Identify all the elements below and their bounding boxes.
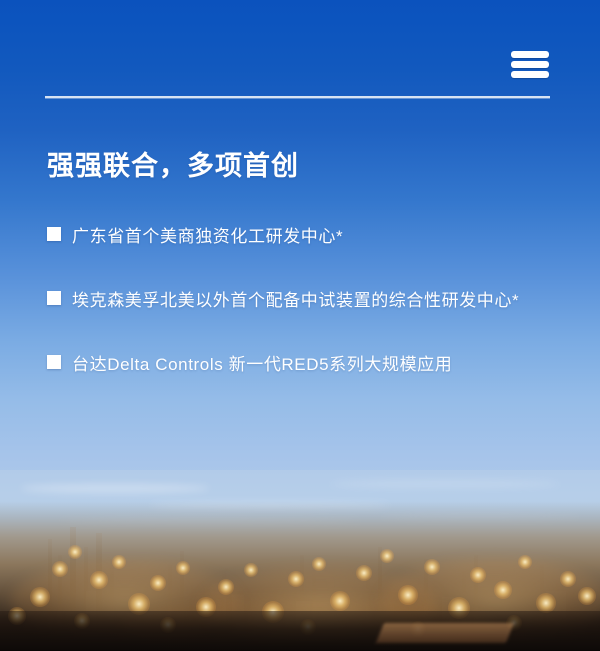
plant-light bbox=[288, 571, 304, 587]
feature-list: 广东省首个美商独资化工研发中心* 埃克森美孚北美以外首个配备中试装置的综合性研发… bbox=[47, 218, 547, 384]
hamburger-bar-bottom bbox=[511, 71, 549, 78]
plant-light bbox=[518, 555, 532, 569]
site-header bbox=[0, 0, 600, 100]
plant-light bbox=[356, 565, 372, 581]
hero-image-refinery bbox=[0, 470, 600, 651]
plant-light bbox=[380, 549, 394, 563]
list-item: 埃克森美孚北美以外首个配备中试装置的综合性研发中心* bbox=[47, 282, 547, 320]
hamburger-bar-top bbox=[511, 51, 549, 58]
list-item-label: 埃克森美孚北美以外首个配备中试装置的综合性研发中心* bbox=[72, 291, 519, 310]
plant-light bbox=[330, 591, 350, 611]
refinery-structures bbox=[0, 501, 600, 651]
hamburger-menu-icon[interactable] bbox=[511, 51, 549, 79]
plant-light bbox=[578, 587, 596, 605]
header-divider bbox=[45, 96, 550, 98]
plant-light bbox=[150, 575, 166, 591]
plant-light bbox=[560, 571, 576, 587]
access-road bbox=[376, 623, 514, 643]
plant-light bbox=[398, 585, 418, 605]
page-root: 强强联合，多项首创 广东省首个美商独资化工研发中心* 埃克森美孚北美以外首个配备… bbox=[0, 0, 600, 651]
list-item: 台达Delta Controls 新一代RED5系列大规模应用 bbox=[47, 346, 547, 384]
plant-light bbox=[312, 557, 326, 571]
square-bullet-icon bbox=[47, 355, 61, 369]
list-item-label: 广东省首个美商独资化工研发中心* bbox=[72, 227, 343, 246]
plant-light bbox=[218, 579, 234, 595]
plant-light bbox=[424, 559, 440, 575]
plant-light bbox=[536, 593, 556, 613]
hamburger-bar-middle bbox=[511, 61, 549, 68]
plant-light bbox=[176, 561, 190, 575]
plant-light bbox=[112, 555, 126, 569]
plant-light bbox=[30, 587, 50, 607]
plant-light bbox=[68, 545, 82, 559]
plant-light bbox=[52, 561, 68, 577]
plant-light bbox=[90, 571, 108, 589]
plant-light bbox=[470, 567, 486, 583]
list-item: 广东省首个美商独资化工研发中心* bbox=[47, 218, 547, 256]
cloud-streak bbox=[20, 484, 210, 493]
plant-light bbox=[494, 581, 512, 599]
page-title: 强强联合，多项首创 bbox=[47, 144, 299, 183]
list-item-label: 台达Delta Controls 新一代RED5系列大规模应用 bbox=[72, 355, 452, 374]
square-bullet-icon bbox=[47, 291, 61, 305]
plant-light bbox=[244, 563, 258, 577]
square-bullet-icon bbox=[47, 227, 61, 241]
cloud-streak bbox=[330, 480, 560, 488]
